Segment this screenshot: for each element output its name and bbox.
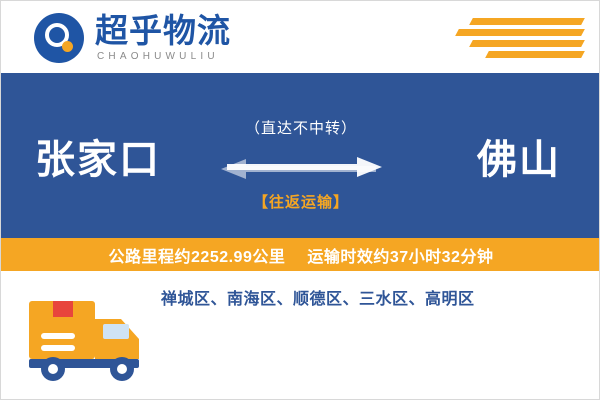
speed-lines-icon	[453, 18, 583, 58]
delivery-truck-icon	[23, 279, 163, 387]
double-arrow-icon	[219, 151, 384, 185]
bottom-section: 禅城区、南海区、顺德区、三水区、高明区	[1, 271, 600, 400]
logo-dot	[62, 41, 73, 52]
brand-name-en: CHAOHUWULIU	[97, 51, 219, 62]
header: 超乎物流 CHAOHUWULIU	[1, 1, 600, 73]
logistics-route-poster: 超乎物流 CHAOHUWULIU 张家口 （直达不中转） 【往返运输】 佛山 公…	[0, 0, 600, 400]
route-note-bottom: 【往返运输】	[1, 191, 600, 212]
distance-text: 公路里程约2252.99公里	[109, 243, 286, 267]
brand-name-cn: 超乎物流	[95, 13, 231, 49]
service-districts: 禅城区、南海区、顺德区、三水区、高明区	[161, 285, 581, 309]
circle-q-logo-icon	[34, 13, 84, 63]
duration-text: 运输时效约37小时32分钟	[307, 243, 493, 267]
route-panel: 张家口 （直达不中转） 【往返运输】 佛山	[1, 73, 600, 238]
info-bar: 公路里程约2252.99公里 运输时效约37小时32分钟	[1, 238, 600, 271]
destination-city: 佛山	[477, 127, 561, 185]
